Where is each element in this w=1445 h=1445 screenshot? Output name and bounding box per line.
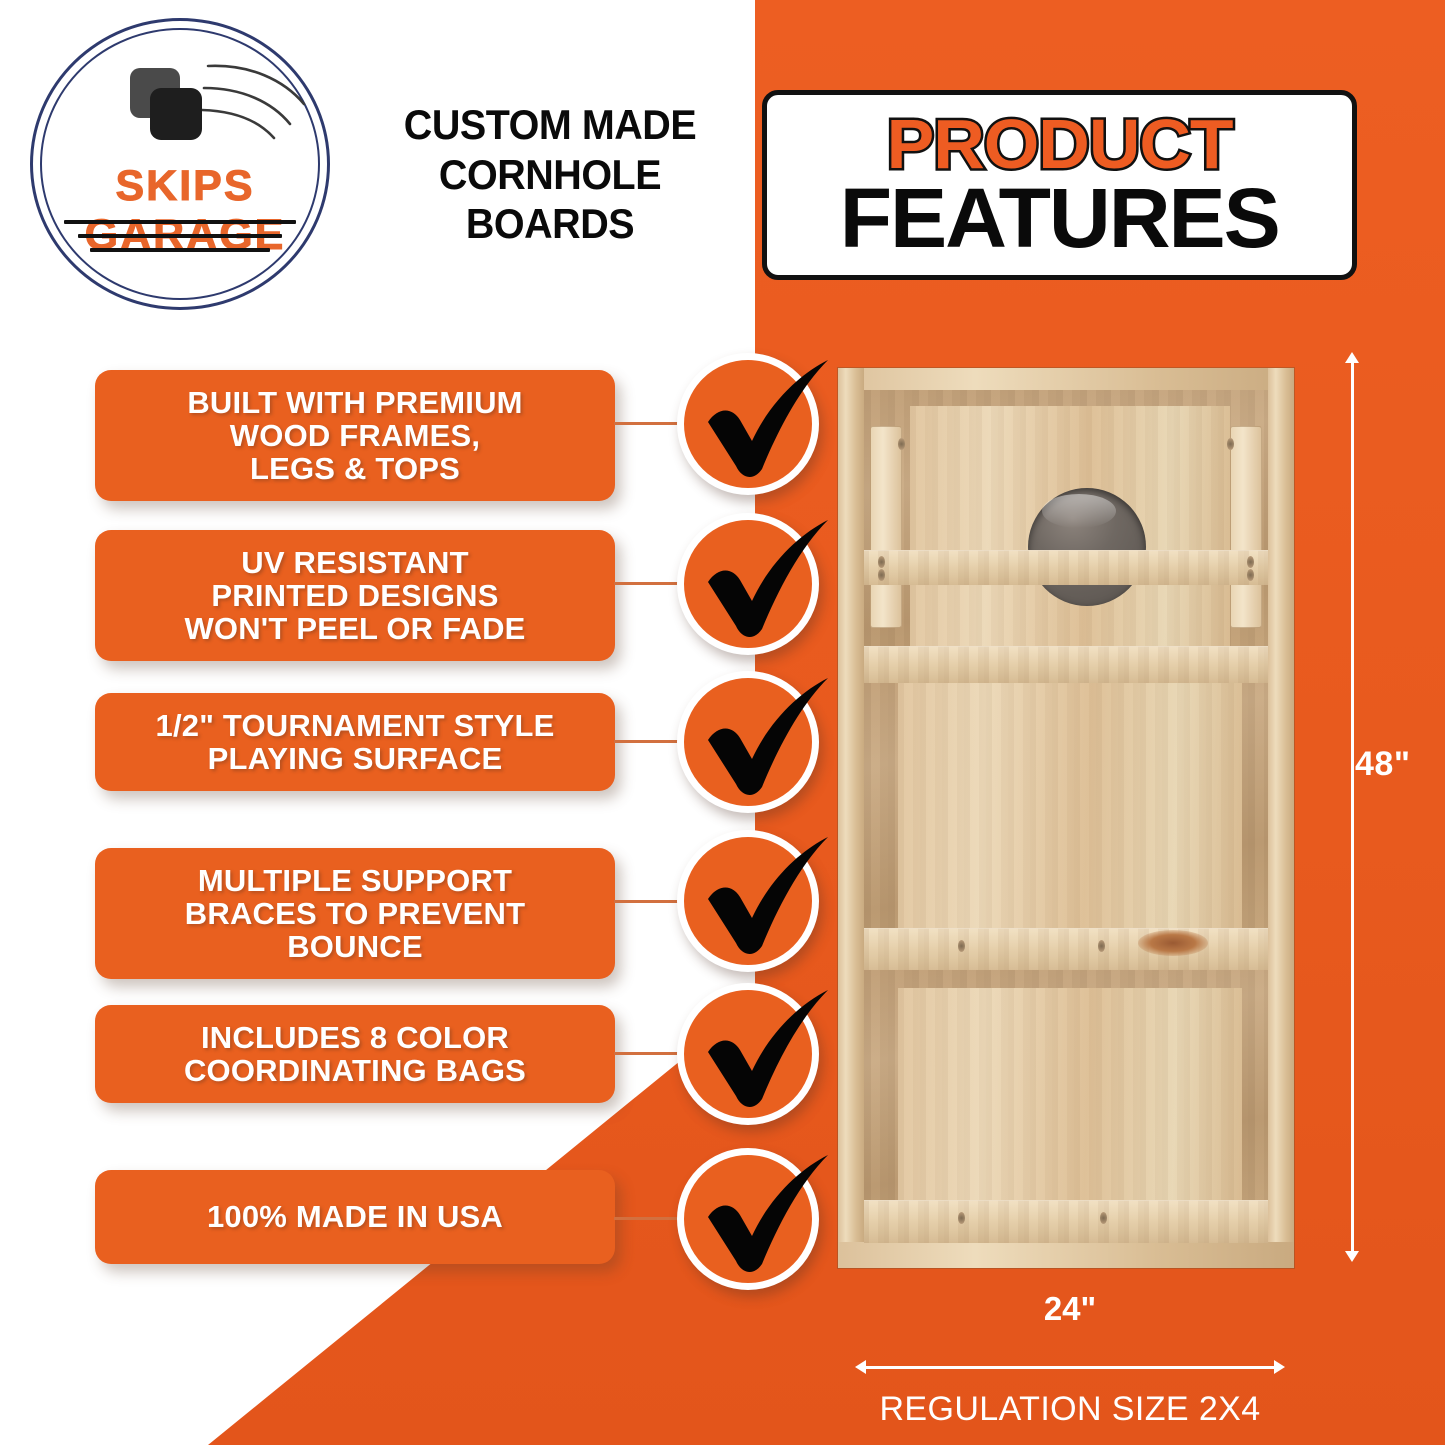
checkmark-badge: [677, 983, 819, 1125]
feature-text-line: 1/2" TOURNAMENT STYLE: [156, 709, 555, 742]
feature-pill-playing-surface[interactable]: 1/2" TOURNAMENT STYLE PLAYING SURFACE: [95, 693, 615, 791]
feature-text-line: BUILT WITH PREMIUM: [187, 386, 522, 419]
feature-pill-included-bags[interactable]: INCLUDES 8 COLOR COORDINATING BAGS: [95, 1005, 615, 1103]
feature-text-line: PRINTED DESIGNS: [184, 579, 525, 612]
support-brace-bottom: [864, 1200, 1268, 1243]
feature-text-line: PLAYING SURFACE: [156, 742, 555, 775]
leg-bolt-right: [1227, 438, 1234, 450]
brace-screw: [958, 1212, 965, 1224]
support-brace-upper: [864, 550, 1268, 585]
arrowhead-right-icon: [1274, 1360, 1285, 1374]
middle-panel-back: [898, 668, 1242, 948]
brace-screw: [1100, 1212, 1107, 1224]
height-dimension-label: 48": [1355, 745, 1410, 784]
checkmark-icon: [678, 338, 846, 506]
checkmark-badge: [677, 513, 819, 655]
feature-text-line: 100% MADE IN USA: [207, 1200, 503, 1233]
infographic-canvas: SKIPS GARAGE CUSTOM MADE CORNHOLE BOARDS…: [0, 0, 1445, 1445]
frame-bottom-rail: [838, 1242, 1294, 1268]
product-features-banner: PRODUCT FEATURES: [762, 90, 1357, 280]
checkmark-icon: [678, 968, 846, 1136]
cornhole-hole: [1028, 488, 1146, 606]
checkmark-badge: [677, 671, 819, 813]
support-brace-middle-top: [864, 646, 1268, 683]
feature-text-line: UV RESISTANT: [184, 546, 525, 579]
frame-left-rail: [838, 368, 864, 1268]
feature-text-line: BRACES TO PREVENT: [185, 897, 525, 930]
dimension-line-horizontal: [864, 1366, 1276, 1369]
leg-bolt-left: [898, 438, 905, 450]
feature-pill-uv-resistant[interactable]: UV RESISTANT PRINTED DESIGNS WON'T PEEL …: [95, 530, 615, 661]
hole-gloss-highlight: [1042, 494, 1116, 528]
wood-knot: [1138, 930, 1208, 956]
checkmark-icon: [678, 498, 846, 666]
folding-leg-right: [1230, 426, 1262, 628]
width-dimension-arrow: [855, 1355, 1285, 1379]
support-brace-middle-bottom: [864, 928, 1268, 971]
checkmark-icon: [678, 815, 846, 983]
feature-pill-premium-wood[interactable]: BUILT WITH PREMIUM WOOD FRAMES, LEGS & T…: [95, 370, 615, 501]
checkmark-badge: [677, 1148, 819, 1290]
regulation-size-note: REGULATION SIZE 2X4: [790, 1390, 1350, 1429]
frame-right-rail: [1268, 368, 1294, 1268]
height-dimension-arrow: [1340, 352, 1364, 1262]
feature-pill-made-in-usa[interactable]: 100% MADE IN USA: [95, 1170, 615, 1264]
feature-text-line: WON'T PEEL OR FADE: [184, 612, 525, 645]
feature-text-line: COORDINATING BAGS: [184, 1054, 526, 1087]
checkmark-badge: [677, 830, 819, 972]
feature-pill-support-braces[interactable]: MULTIPLE SUPPORT BRACES TO PREVENT BOUNC…: [95, 848, 615, 979]
feature-list: BUILT WITH PREMIUM WOOD FRAMES, LEGS & T…: [0, 0, 845, 1445]
lower-panel-back: [898, 988, 1242, 1210]
banner-word-product: PRODUCT: [887, 111, 1233, 178]
brace-screw: [1247, 556, 1254, 568]
checkmark-icon: [678, 1133, 846, 1301]
frame-top-rail: [838, 368, 1294, 390]
brace-screw: [958, 940, 965, 952]
checkmark-badge: [677, 353, 819, 495]
arrowhead-down-icon: [1345, 1251, 1359, 1262]
width-dimension-label: 24": [855, 1290, 1285, 1328]
brace-screw: [1247, 569, 1254, 581]
banner-word-features: FEATURES: [840, 179, 1279, 259]
dimension-line-vertical: [1351, 361, 1354, 1253]
folding-leg-left: [870, 426, 902, 628]
brace-screw: [878, 569, 885, 581]
checkmark-icon: [678, 656, 846, 824]
feature-row: 100% MADE IN USA: [0, 1160, 845, 1330]
feature-text-line: INCLUDES 8 COLOR: [184, 1021, 526, 1054]
product-photo: [838, 368, 1294, 1268]
feature-text-line: BOUNCE: [185, 930, 525, 963]
feature-text-line: LEGS & TOPS: [187, 452, 522, 485]
feature-text-line: MULTIPLE SUPPORT: [185, 864, 525, 897]
brace-screw: [1098, 940, 1105, 952]
brace-screw: [878, 556, 885, 568]
feature-text-line: WOOD FRAMES,: [187, 419, 522, 452]
